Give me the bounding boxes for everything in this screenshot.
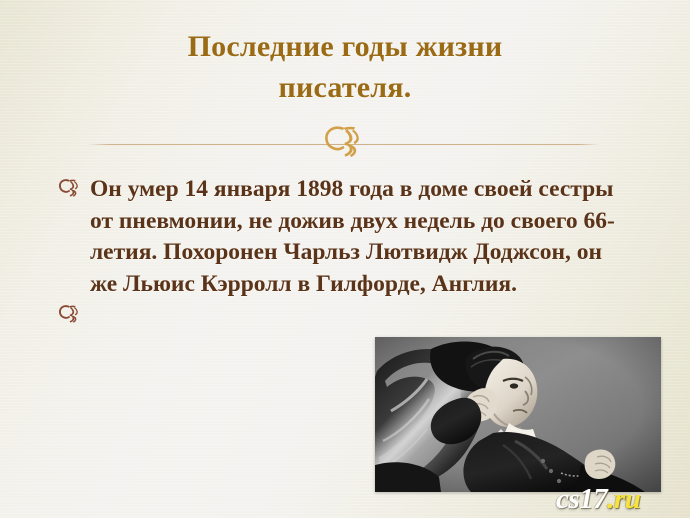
cb-monogram-ornament — [0, 120, 690, 160]
watermark-tld: .ru — [607, 483, 640, 515]
list-item-text: Он умер 14 января 1898 года в доме своей… — [90, 174, 632, 300]
title-line-1: Последние годы жизни — [60, 26, 630, 67]
lewis-carroll-portrait-photo — [375, 337, 661, 492]
slide-title: Последние годы жизни писателя. — [60, 26, 630, 108]
title-divider-line — [88, 144, 600, 145]
slide-body: Он умер 14 января 1898 года в доме своей… — [52, 174, 632, 331]
title-line-2: писателя. — [60, 67, 630, 108]
presentation-slide: Последние годы жизни писателя. — [0, 0, 690, 518]
site-watermark: cs17.ru — [556, 484, 640, 514]
cb-bullet-ornament — [56, 302, 86, 324]
list-item — [52, 300, 632, 331]
watermark-name: cs17 — [556, 483, 607, 515]
cb-bullet-ornament — [56, 176, 86, 198]
list-item: Он умер 14 января 1898 года в доме своей… — [52, 174, 632, 300]
